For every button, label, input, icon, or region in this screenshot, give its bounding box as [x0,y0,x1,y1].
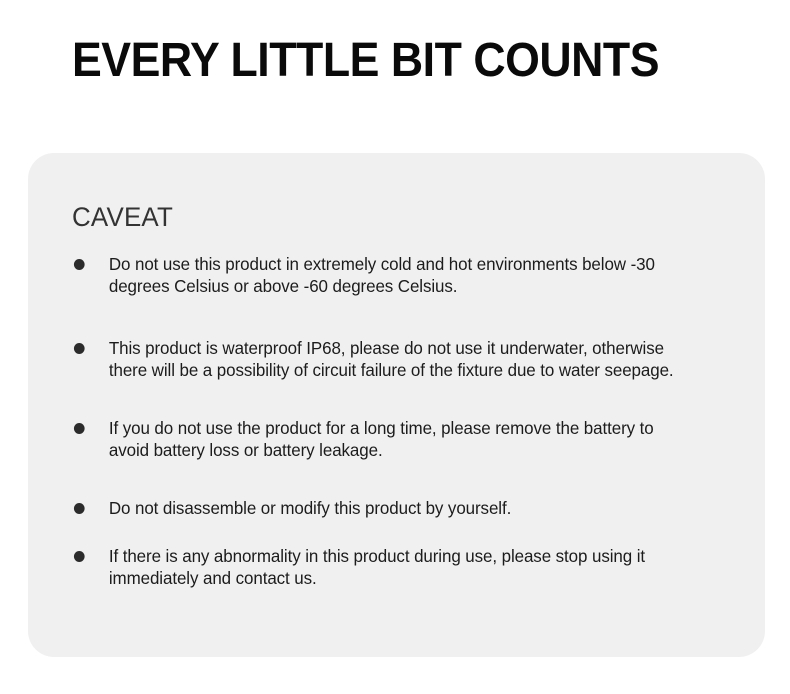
caveat-list-item: If there is any abnormality in this prod… [72,545,721,589]
caveat-item-text: If you do not use the product for a long… [109,417,691,461]
bullet-icon [74,423,85,434]
caveat-list-item: Do not use this product in extremely col… [72,253,721,297]
caveat-list-item: If you do not use the product for a long… [72,417,721,461]
caveat-list-item: This product is waterproof IP68, please … [72,337,721,381]
product-caveat-page: ©vntuan.com EVERY LITTLE BIT COUNTS CAVE… [0,0,790,694]
caveat-list: Do not use this product in extremely col… [72,253,741,589]
page-title: EVERY LITTLE BIT COUNTS [72,32,659,90]
caveat-card: CAVEAT Do not use this product in extrem… [28,153,765,657]
bullet-icon [74,259,85,270]
bullet-icon [74,503,85,514]
caveat-item-text: Do not disassemble or modify this produc… [109,497,691,519]
caveat-item-text: This product is waterproof IP68, please … [109,337,691,381]
bullet-icon [74,343,85,354]
bullet-icon [74,551,85,562]
caveat-item-text: If there is any abnormality in this prod… [109,545,691,589]
caveat-heading: CAVEAT [72,201,173,233]
caveat-item-text: Do not use this product in extremely col… [109,253,691,297]
caveat-list-item: Do not disassemble or modify this produc… [72,497,721,519]
